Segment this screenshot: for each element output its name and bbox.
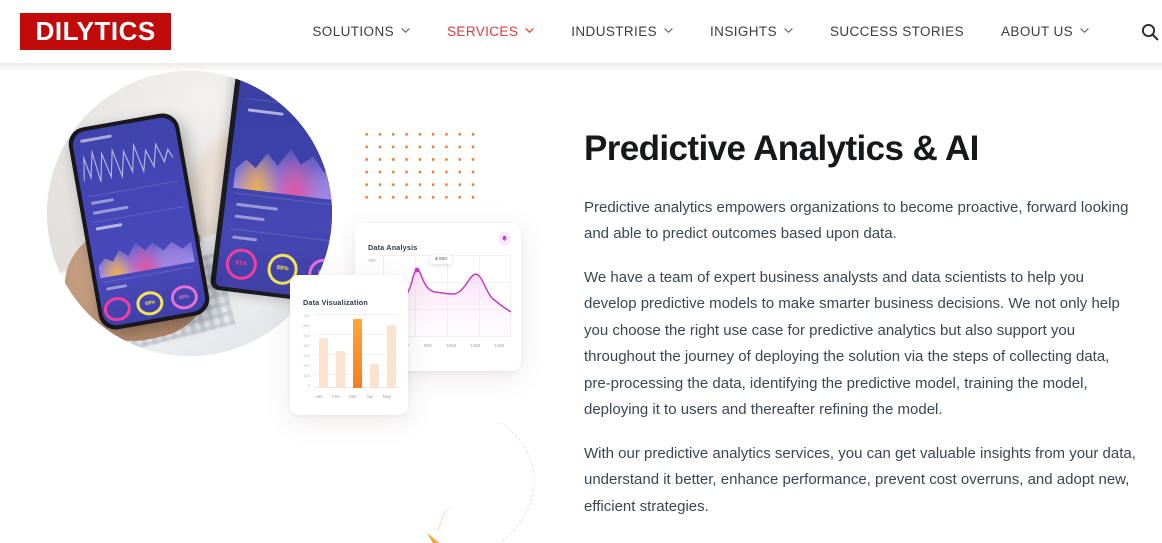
nav-item-about-us[interactable]: ABOUT US [1001,24,1089,39]
data-analysis-title: Data Analysis [368,243,417,252]
hero-paragraph-3: With our predictive analytics services, … [584,441,1140,521]
hero-section: 81% 69% 85% [0,63,1162,543]
chart-x-tick: 1200 [470,343,480,348]
chevron-down-icon [525,26,534,35]
chart-x-tick: 1000 [446,343,456,348]
nav-label: SUCCESS STORIES [830,24,964,39]
bar-x-tick: Feb [328,394,344,399]
hero-illustration: 81% 69% 85% [0,63,560,543]
bar-y-tick: 400 [298,343,310,348]
bar-jan [319,338,328,388]
nav-item-services[interactable]: SERVICES [447,24,534,39]
main-navigation: SOLUTIONS SERVICES INDUSTRIES INSIGHTS S [312,20,1162,44]
bar-y-tick: 500 [298,333,310,338]
chart-tooltip-value: $ 500 [435,257,447,262]
bar-may [387,325,396,388]
logo[interactable]: DILYTICS [20,13,171,50]
nav-item-solutions[interactable]: SOLUTIONS [312,24,410,39]
bar-y-tick: 600 [298,323,310,328]
nav-label: INDUSTRIES [571,24,657,39]
bar-x-tick: Apr [362,394,378,399]
chart-x-tick: 800 [424,343,432,348]
bar-y-tick: 700 [298,313,310,318]
data-visualization-title: Data Visualization [303,298,368,307]
bell-icon[interactable] [498,232,511,245]
nav-item-success-stories[interactable]: SUCCESS STORIES [830,24,964,39]
search-icon[interactable] [1138,20,1162,44]
chevron-down-icon [401,26,410,35]
chart-x-tick: 1400 [494,343,504,348]
chevron-down-icon [1080,26,1089,35]
arrow-icon [424,529,450,543]
dot-grid-decoration [358,126,480,202]
chevron-down-icon [784,26,793,35]
bar-x-tick: May [379,394,395,399]
bar-x-tick: Mar [345,394,361,399]
chart-tooltip: $ 500 [430,255,452,264]
hero-content: Predictive Analytics & AI Predictive ana… [560,63,1162,543]
bar-y-tick: 300 [298,353,310,358]
hero-paragraph-1: Predictive analytics empowers organizati… [584,195,1140,248]
bar-y-tick: 100 [298,373,310,378]
bar-x-tick: Jan [311,394,327,399]
data-visualization-card: Data Visualization 700 600 500 400 300 2… [290,275,408,415]
nav-label: INSIGHTS [710,24,777,39]
page-title: Predictive Analytics & AI [584,130,1162,169]
logo-text: DILYTICS [36,16,156,47]
nav-label: SOLUTIONS [312,24,394,39]
nav-item-insights[interactable]: INSIGHTS [710,24,793,39]
bar-mar [353,319,362,388]
nav-label: SERVICES [447,24,518,39]
bar-y-tick: 200 [298,363,310,368]
site-header: DILYTICS SOLUTIONS SERVICES INDUSTRIES I… [0,0,1162,63]
bar-y-tick: 0 [298,383,310,388]
nav-item-industries[interactable]: INDUSTRIES [571,24,673,39]
chevron-down-icon [664,26,673,35]
nav-label: ABOUT US [1001,24,1073,39]
bar-apr [370,364,379,388]
chart-y-max-label: 700 [368,258,376,263]
bar-feb [336,351,345,388]
hero-paragraph-2: We have a team of expert business analys… [584,265,1140,424]
